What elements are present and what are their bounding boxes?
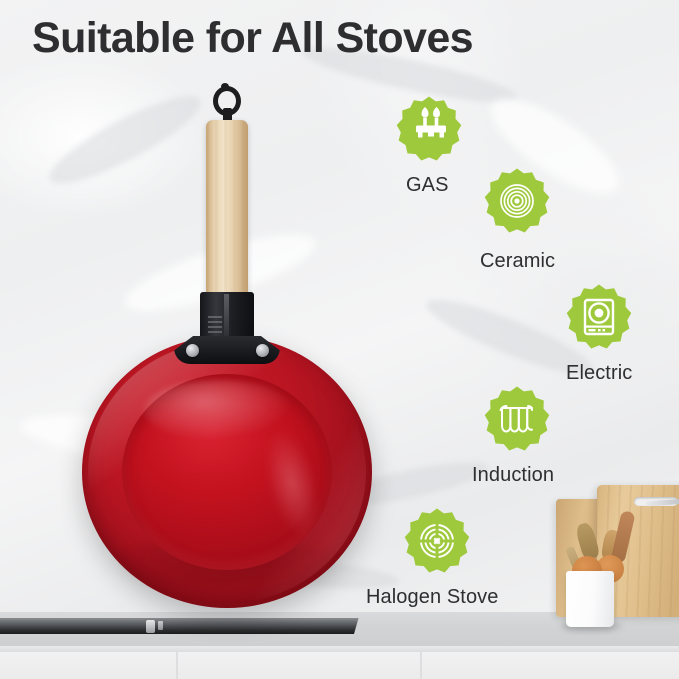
- ferrule-texture: [208, 316, 222, 338]
- badge-shape-induction: [484, 386, 550, 452]
- badge-label-gas: GAS: [406, 174, 449, 197]
- utensil-crock: [566, 571, 614, 627]
- badge-halogen[interactable]: [404, 508, 470, 574]
- page-title: Suitable for All Stoves: [32, 14, 473, 63]
- pan-body: [82, 336, 372, 608]
- cabinet-seam: [176, 652, 178, 679]
- cooktop-control: [158, 621, 163, 630]
- badge-shape-halogen: [404, 508, 470, 574]
- wooden-handle: [206, 120, 248, 300]
- red-frying-pan: [82, 78, 372, 613]
- glass-cooktop: [0, 618, 359, 634]
- badge-electric[interactable]: [566, 284, 632, 350]
- handle-grain: [206, 120, 248, 300]
- badge-ceramic[interactable]: [484, 168, 550, 234]
- cabinet-seam: [420, 652, 422, 679]
- bracket-rivet: [186, 344, 199, 357]
- badge-shape-ceramic: [484, 168, 550, 234]
- badge-shape-electric: [566, 284, 632, 350]
- badge-label-halogen: Halogen Stove: [366, 586, 499, 609]
- badge-label-ceramic: Ceramic: [480, 250, 555, 273]
- badge-gas[interactable]: [396, 96, 462, 162]
- product-marketing-image: GAS Ceramic Electric: [0, 0, 679, 679]
- ring-rivet: [221, 83, 229, 90]
- badge-label-electric: Electric: [566, 362, 632, 385]
- cabinet-fronts: [0, 652, 679, 679]
- badge-label-induction: Induction: [472, 464, 554, 487]
- badge-shape-gas: [396, 96, 462, 162]
- pan-gloss-highlight: [144, 380, 294, 440]
- bracket-rivet: [256, 344, 269, 357]
- badge-induction[interactable]: [484, 386, 550, 452]
- cooktop-control: [146, 620, 155, 633]
